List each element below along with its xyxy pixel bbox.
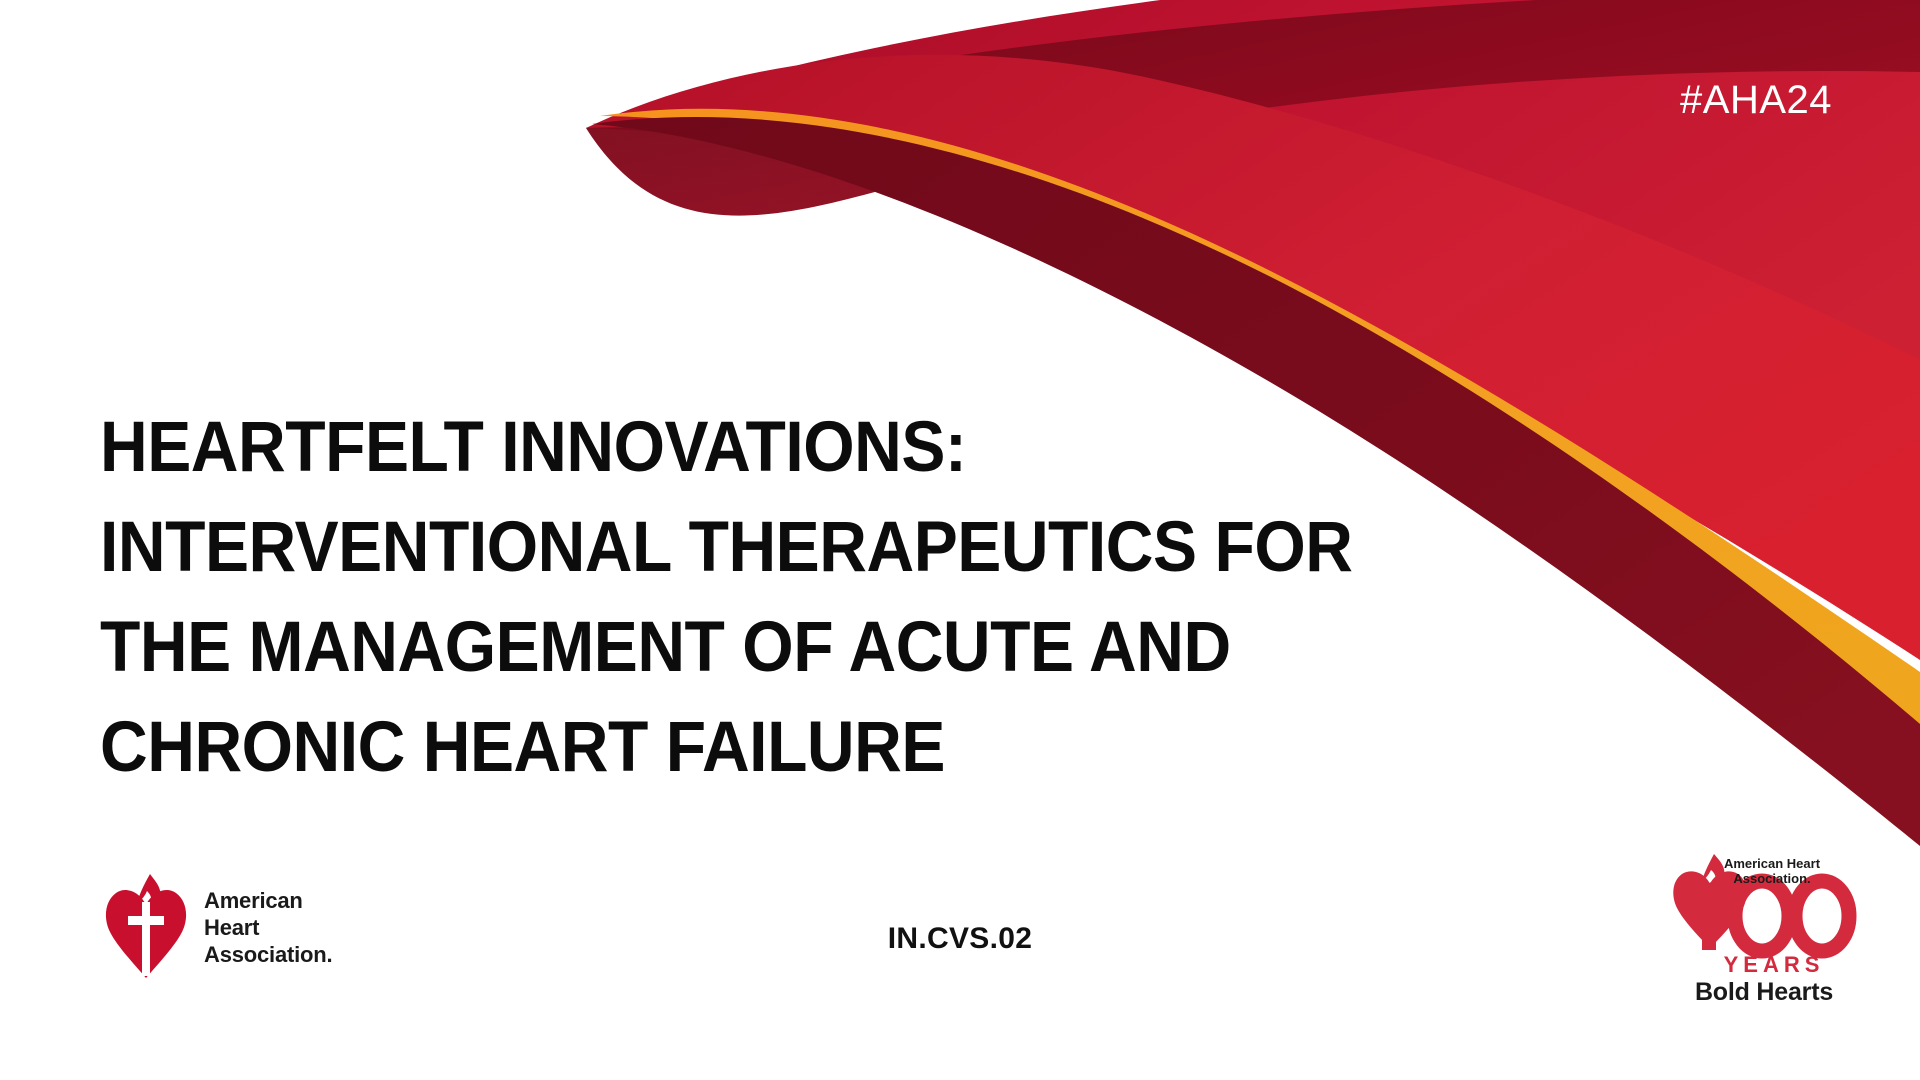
centennial-logo: American Heart Association. YEARS Bold H…	[1664, 846, 1864, 1007]
hashtag-label: #AHA24	[1680, 78, 1832, 123]
aha-wordmark-line-2: Heart	[204, 914, 332, 941]
title-line-2: INTERVENTIONAL THERAPEUTICS FOR	[100, 498, 1495, 598]
aha-logo: American Heart Association.	[104, 872, 332, 982]
page-title: HEARTFELT INNOVATIONS: INTERVENTIONAL TH…	[100, 398, 1600, 798]
aha-logo-wordmark: American Heart Association.	[204, 887, 332, 968]
heart-torch-icon	[104, 872, 188, 982]
centennial-org-line-2: Association.	[1733, 871, 1810, 886]
aha-wordmark-line-3: Association.	[204, 941, 332, 968]
centennial-years-label: YEARS	[1724, 952, 1825, 976]
presentation-title-slide: #AHA24 HEARTFELT INNOVATIONS: INTERVENTI…	[0, 0, 1920, 1080]
centennial-org-line-1: American Heart	[1724, 856, 1821, 871]
aha-wordmark-line-1: American	[204, 887, 332, 914]
title-line-1: HEARTFELT INNOVATIONS:	[100, 398, 1495, 498]
centennial-100-years-icon: American Heart Association. YEARS	[1664, 846, 1864, 976]
title-line-4: CHRONIC HEART FAILURE	[100, 698, 1495, 798]
title-line-3: THE MANAGEMENT OF ACUTE AND	[100, 598, 1495, 698]
centennial-tagline: Bold Hearts	[1664, 978, 1864, 1007]
